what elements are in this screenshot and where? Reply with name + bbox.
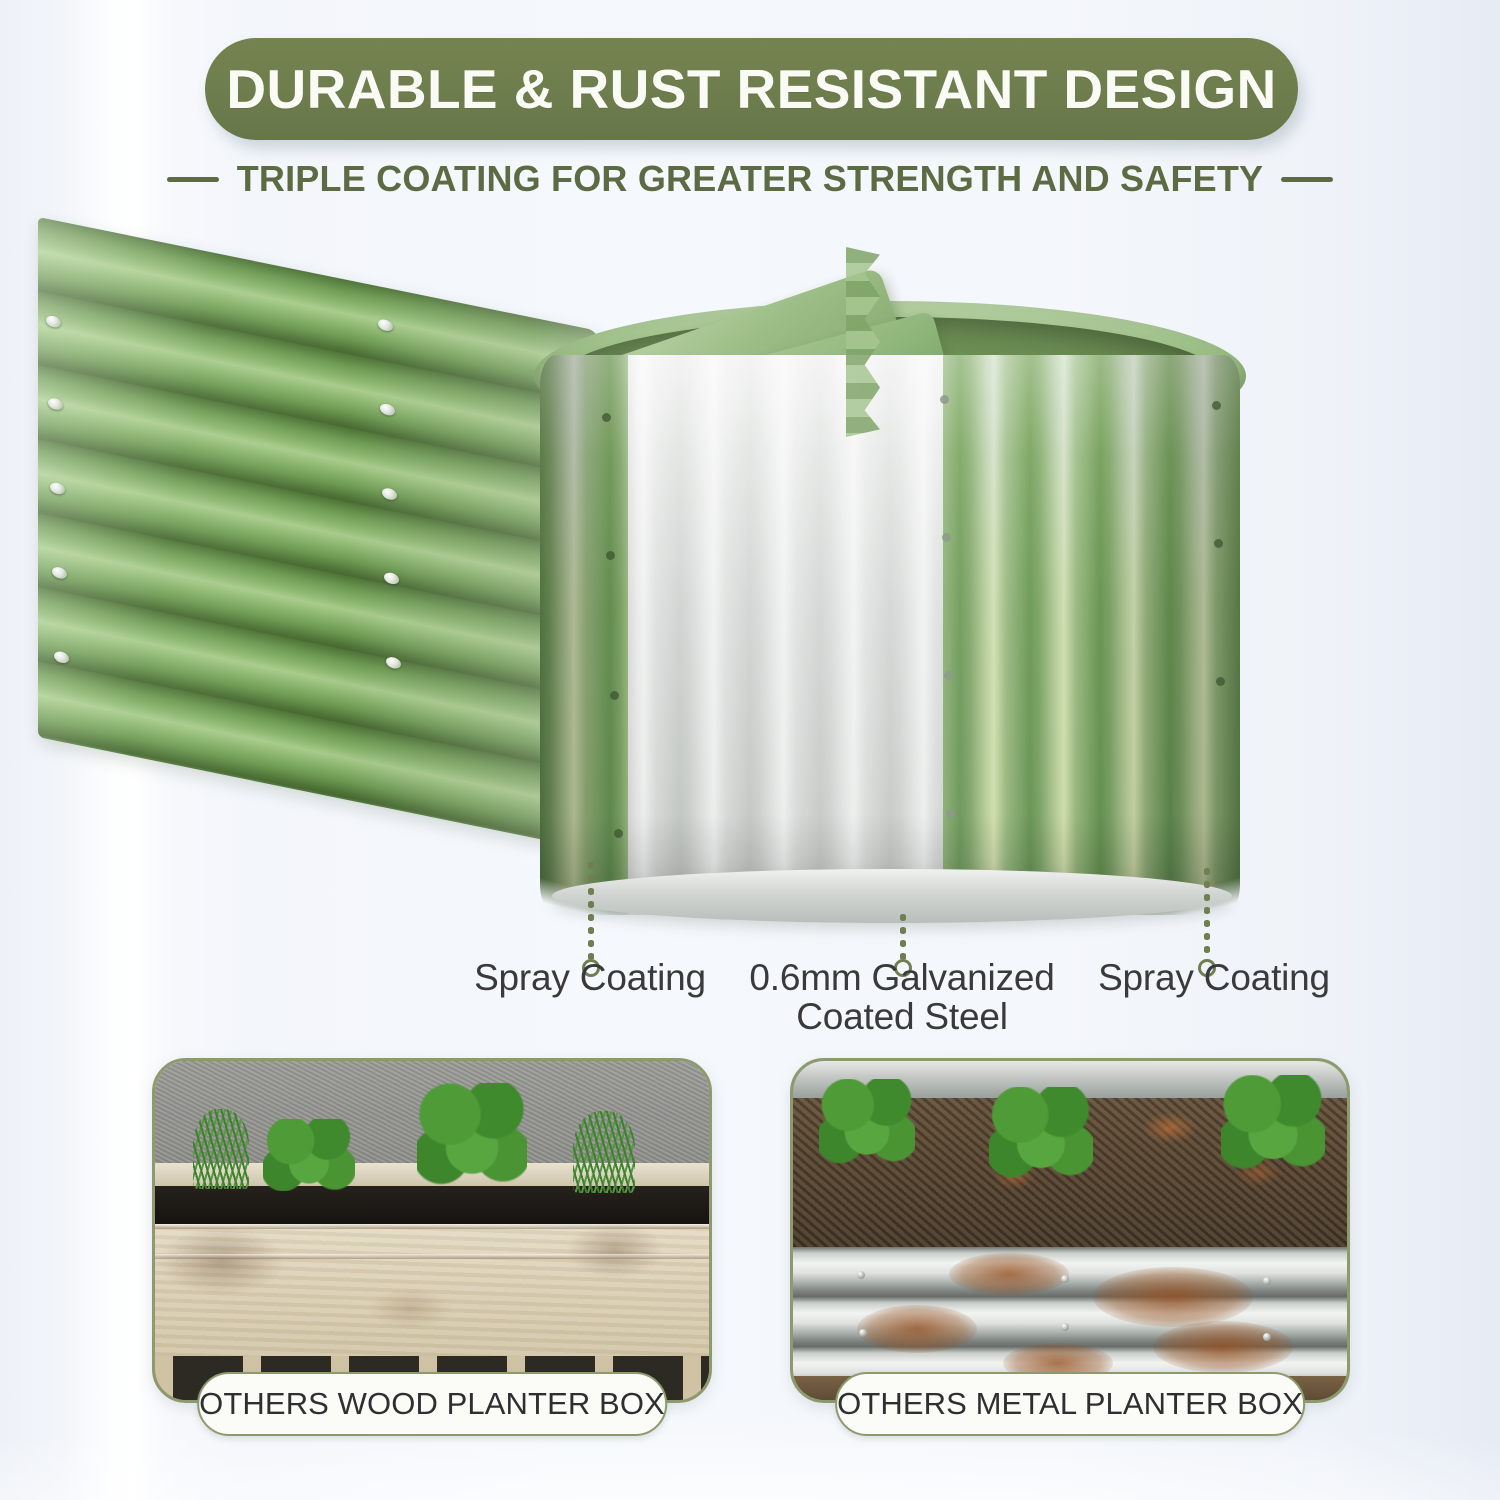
leader-line-spray-coating-right — [1204, 865, 1210, 959]
hero-product-image — [0, 205, 1500, 945]
caption-pill-wood: OTHERS WOOD PLANTER BOX — [197, 1372, 667, 1436]
leader-line-spray-coating-left — [588, 859, 594, 959]
comparison-cards: OTHERS WOOD PLANTER BOX — [0, 1058, 1500, 1438]
dash-right-icon — [1281, 177, 1333, 182]
dash-left-icon — [167, 177, 219, 182]
caption-pill-metal: OTHERS METAL PLANTER BOX — [835, 1372, 1305, 1436]
callout-galvanized-steel: 0.6mm Galvanized Coated Steel — [722, 958, 1082, 1036]
metal-planter-photo-frame — [790, 1058, 1350, 1403]
bed-base-band — [552, 869, 1232, 923]
caption-text: OTHERS METAL PLANTER BOX — [837, 1386, 1303, 1422]
callout-spray-coating-right: Spray Coating — [1064, 958, 1364, 997]
callout-labels: Spray Coating 0.6mm Galvanized Coated St… — [0, 958, 1500, 1038]
page-subtitle: TRIPLE COATING FOR GREATER STRENGTH AND … — [237, 158, 1264, 200]
infographic-page: DURABLE & RUST RESISTANT DESIGN TRIPLE C… — [0, 0, 1500, 1500]
extension-panel-green — [38, 217, 598, 851]
comparison-card-metal[interactable]: OTHERS METAL PLANTER BOX — [790, 1058, 1350, 1420]
callout-text: 0.6mm Galvanized — [749, 957, 1054, 998]
metal-planter-photo — [793, 1061, 1347, 1400]
page-title: DURABLE & RUST RESISTANT DESIGN — [226, 57, 1276, 121]
bed-body — [540, 355, 1240, 915]
wood-planter-photo-frame — [152, 1058, 712, 1403]
comparison-card-wood[interactable]: OTHERS WOOD PLANTER BOX — [152, 1058, 712, 1420]
callout-text: Spray Coating — [1098, 957, 1330, 998]
header-banner: DURABLE & RUST RESISTANT DESIGN — [205, 38, 1298, 140]
wood-planter-photo — [155, 1061, 709, 1400]
caption-text: OTHERS WOOD PLANTER BOX — [199, 1386, 665, 1422]
callout-spray-coating-left: Spray Coating — [440, 958, 740, 997]
leader-line-galvanized — [900, 911, 906, 959]
callout-text: Spray Coating — [474, 957, 706, 998]
callout-text-line2: Coated Steel — [722, 997, 1082, 1036]
cylinder-shading — [540, 355, 1240, 915]
subtitle-row: TRIPLE COATING FOR GREATER STRENGTH AND … — [0, 158, 1500, 200]
